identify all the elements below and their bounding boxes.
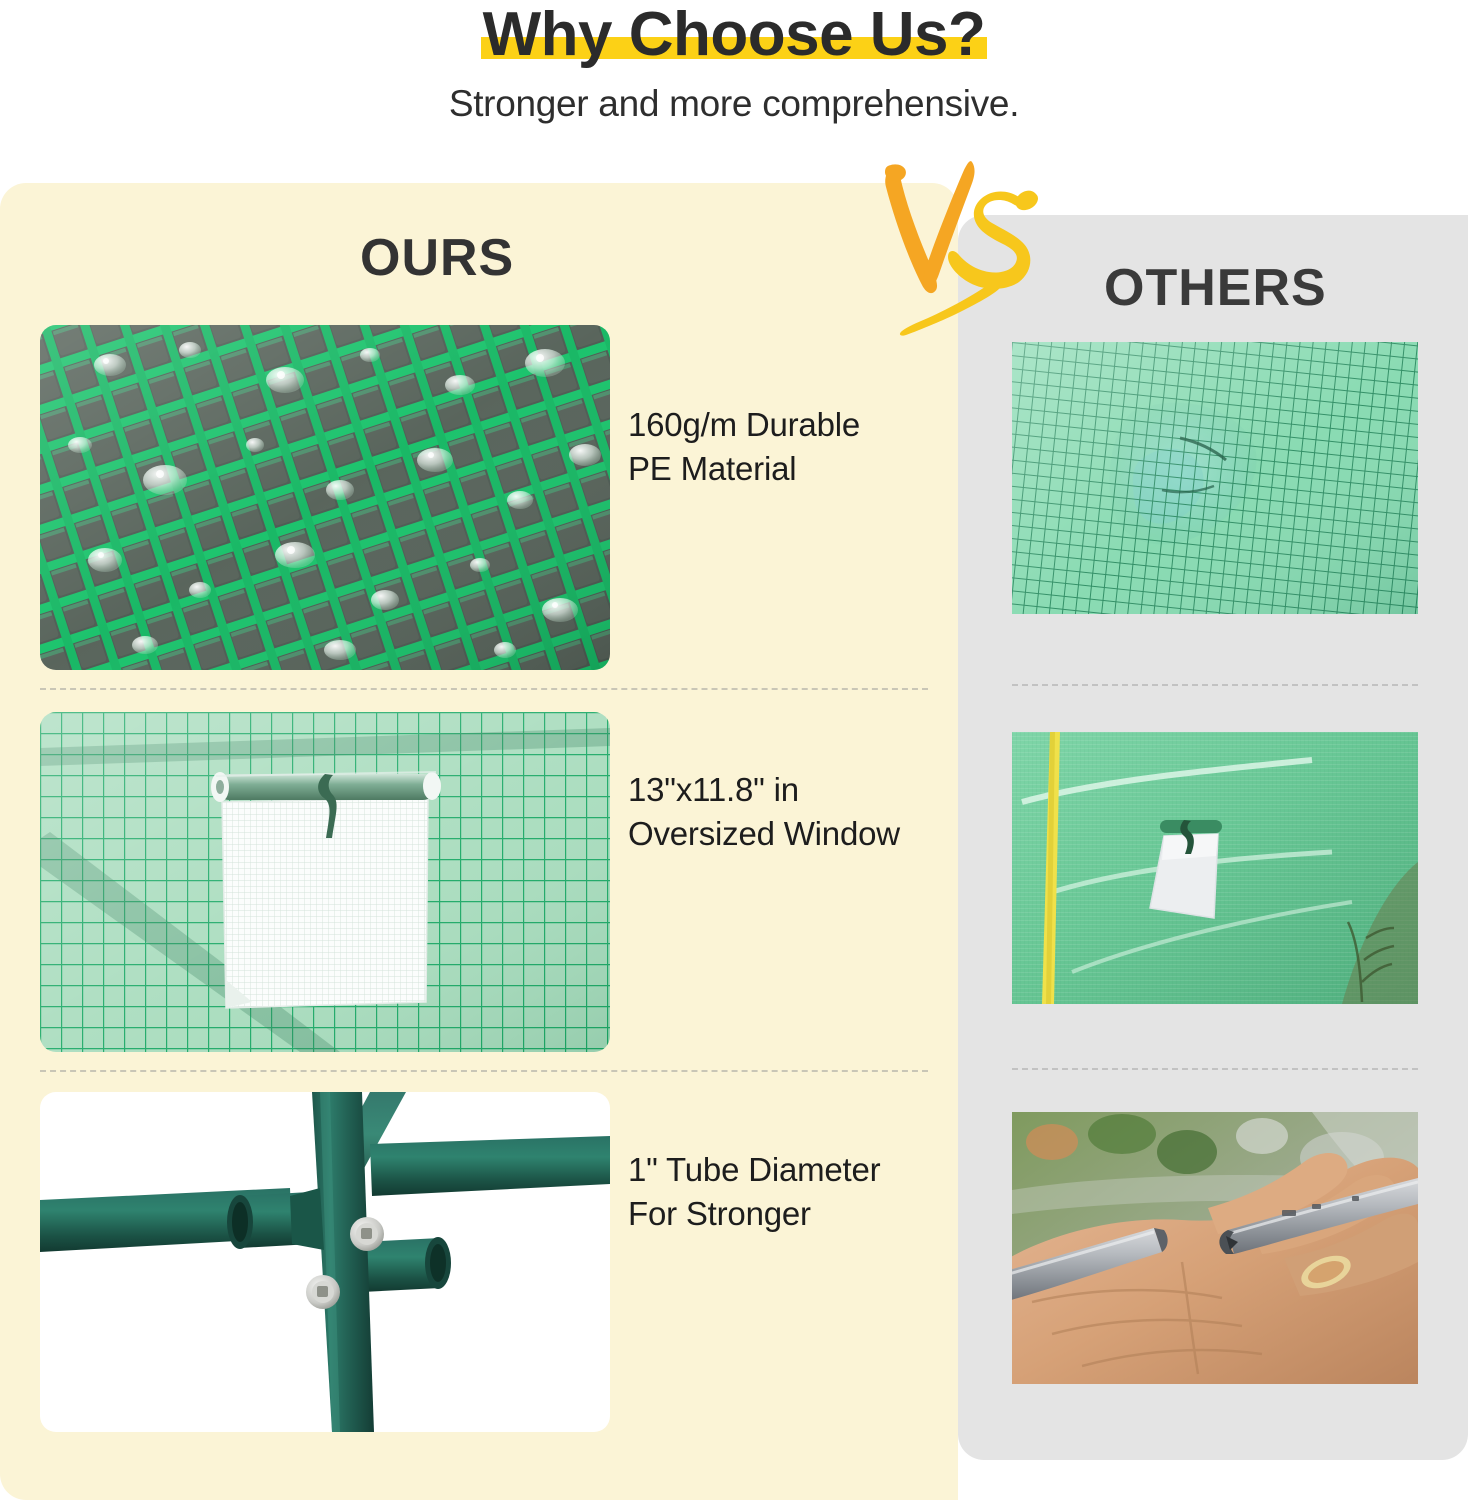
ours-feature-text-2-line1: 13"x11.8" in [628, 768, 968, 812]
ours-feature-text-1: 160g/m Durable PE Material [628, 403, 968, 491]
ours-feature-text-2: 13"x11.8" in Oversized Window [628, 768, 968, 856]
comparison-row-ours-1: 160g/m Durable PE Material [40, 325, 930, 670]
ours-image-pe-mesh [40, 325, 610, 670]
ours-feature-text-2-line2: Oversized Window [628, 812, 968, 856]
others-column-heading: OTHERS [1104, 258, 1327, 318]
ours-feature-text-1-line1: 160g/m Durable [628, 403, 968, 447]
ours-image-oversized-window [40, 712, 610, 1052]
others-image-thin-mesh [1012, 342, 1418, 614]
others-divider-1 [1012, 684, 1418, 686]
ours-divider-2 [40, 1070, 928, 1072]
comparison-row-ours-3: 1" Tube Diameter For Stronger [40, 1092, 930, 1432]
ours-column-heading: OURS [360, 228, 514, 288]
header: Why Choose Us? Stronger and more compreh… [0, 0, 1468, 183]
ours-feature-text-1-line2: PE Material [628, 447, 968, 491]
others-image-small-window [1012, 732, 1418, 1004]
others-divider-2 [1012, 1068, 1418, 1070]
page-title-wrapper: Why Choose Us? [475, 2, 994, 67]
others-image-bent-tubes [1012, 1112, 1418, 1384]
comparison-row-others-2 [1012, 732, 1418, 1004]
ours-divider-1 [40, 688, 928, 690]
ours-feature-text-3-line2: For Stronger [628, 1192, 968, 1236]
ours-feature-text-3-line1: 1" Tube Diameter [628, 1148, 968, 1192]
ours-feature-text-3: 1" Tube Diameter For Stronger [628, 1148, 968, 1236]
comparison-row-ours-2: 13"x11.8" in Oversized Window [40, 712, 930, 1052]
page-title: Why Choose Us? [475, 2, 994, 67]
page-subtitle: Stronger and more comprehensive. [0, 83, 1468, 125]
comparison-row-others-1 [1012, 342, 1418, 614]
comparison-row-others-3 [1012, 1112, 1418, 1384]
ours-image-tube-joint [40, 1092, 610, 1432]
